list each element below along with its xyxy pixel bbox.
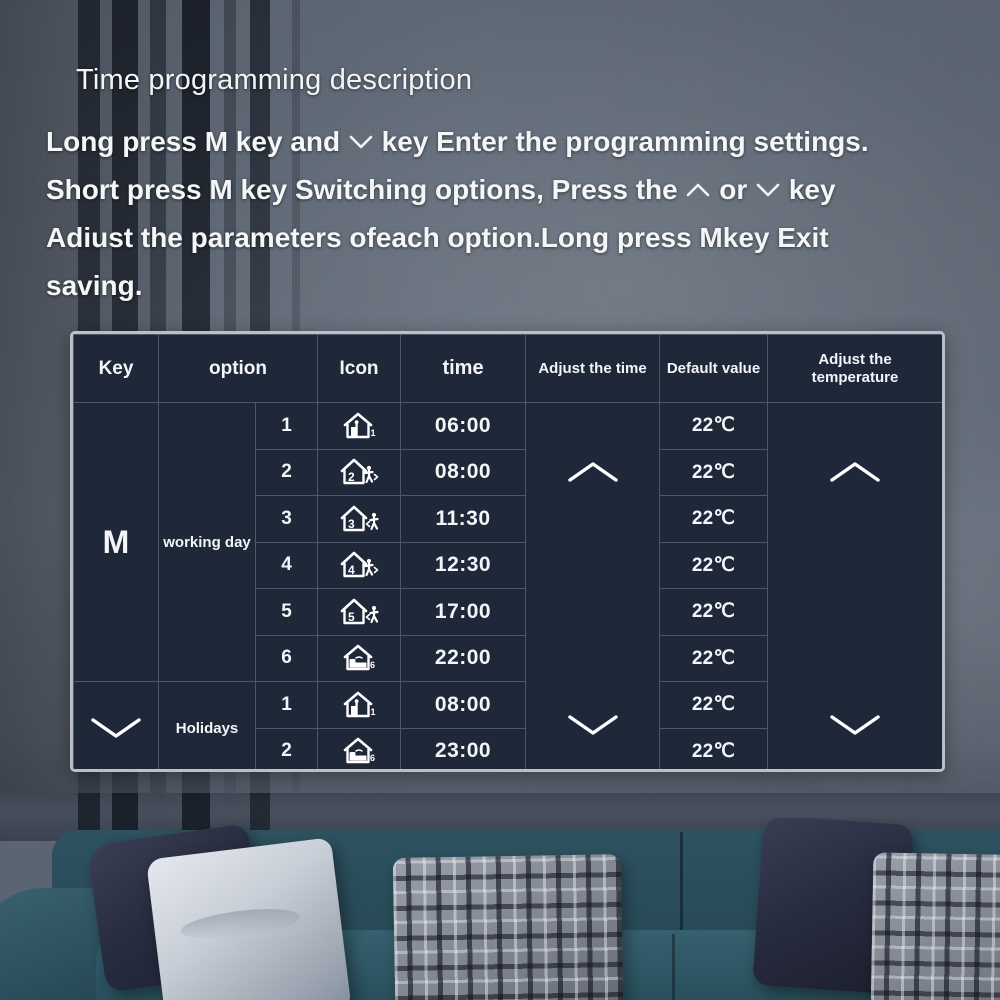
room-scene: Time programming description Long press … [0,0,1000,1000]
header-key: Key [74,335,159,403]
house-wake-icon: 1 [318,403,401,450]
row-number: 4 [256,542,318,589]
table-header-row: Key option Icon time Adjust the time Def… [74,335,943,403]
row-number: 1 [256,682,318,729]
default-value: 22℃ [660,403,768,450]
row-number: 1 [256,403,318,450]
house-enter-icon: 3 [318,496,401,543]
time-value: 06:00 [401,403,526,450]
svg-text:5: 5 [348,610,355,624]
svg-text:1: 1 [371,428,376,438]
key-cell-m: M [74,403,159,682]
header-adjust-temperature: Adjust the temperature [768,335,943,403]
chevron-down-icon [755,180,781,200]
house-sleep-icon: 6 [318,728,401,772]
header-default-value: Default value [660,335,768,403]
svg-text:6: 6 [370,753,375,763]
row-number: 2 [256,449,318,496]
header-adjust-time: Adjust the time [526,335,660,403]
description-text: Long press M key and key Enter the progr… [46,118,996,310]
page-title: Time programming description [76,64,472,97]
option-working-day: working day [159,403,256,682]
time-value: 17:00 [401,589,526,636]
adjust-temperature-control[interactable] [768,403,943,773]
sofa-fabric-texture [0,818,1000,1000]
description-line-3: Adiust the parameters ofeach option.Long… [46,222,829,253]
description-line-4: saving. [46,270,142,301]
house-enter-icon: 5 [318,589,401,636]
time-value: 08:00 [401,682,526,729]
time-value: 23:00 [401,728,526,772]
table-row: M working day 1 1 06:00 [74,403,943,450]
chevron-up-icon[interactable] [565,459,621,485]
header-icon: Icon [318,335,401,403]
house-leave-icon: 4 [318,542,401,589]
default-value: 22℃ [660,635,768,682]
default-value: 22℃ [660,682,768,729]
key-cell-down[interactable] [74,682,159,773]
default-value: 22℃ [660,496,768,543]
description-line-2: Short press M key Switching options, Pre… [46,174,836,205]
chevron-up-icon[interactable] [827,459,883,485]
header-time: time [401,335,526,403]
chevron-down-icon [348,132,374,152]
option-holidays: Holidays [159,682,256,773]
default-value: 22℃ [660,589,768,636]
row-number: 5 [256,589,318,636]
default-value: 22℃ [660,728,768,772]
sofa [0,818,1000,1000]
svg-text:1: 1 [371,707,376,717]
adjust-time-control[interactable] [526,403,660,773]
svg-text:6: 6 [370,660,375,670]
house-sleep-icon: 6 [318,635,401,682]
default-value: 22℃ [660,449,768,496]
house-wake-icon: 1 [318,682,401,729]
chevron-down-icon[interactable] [88,715,144,741]
programming-table: Key option Icon time Adjust the time Def… [70,331,945,772]
svg-text:3: 3 [348,517,355,531]
chevron-up-icon [685,180,711,200]
chevron-down-icon[interactable] [565,712,621,738]
house-leave-icon: 2 [318,449,401,496]
row-number: 3 [256,496,318,543]
default-value: 22℃ [660,542,768,589]
row-number: 2 [256,728,318,772]
time-value: 11:30 [401,496,526,543]
time-value: 22:00 [401,635,526,682]
time-value: 12:30 [401,542,526,589]
description-line-1: Long press M key and key Enter the progr… [46,126,869,157]
svg-text:4: 4 [348,563,355,577]
time-value: 08:00 [401,449,526,496]
chevron-down-icon[interactable] [827,712,883,738]
row-number: 6 [256,635,318,682]
svg-text:2: 2 [348,470,355,484]
header-option: option [159,335,318,403]
